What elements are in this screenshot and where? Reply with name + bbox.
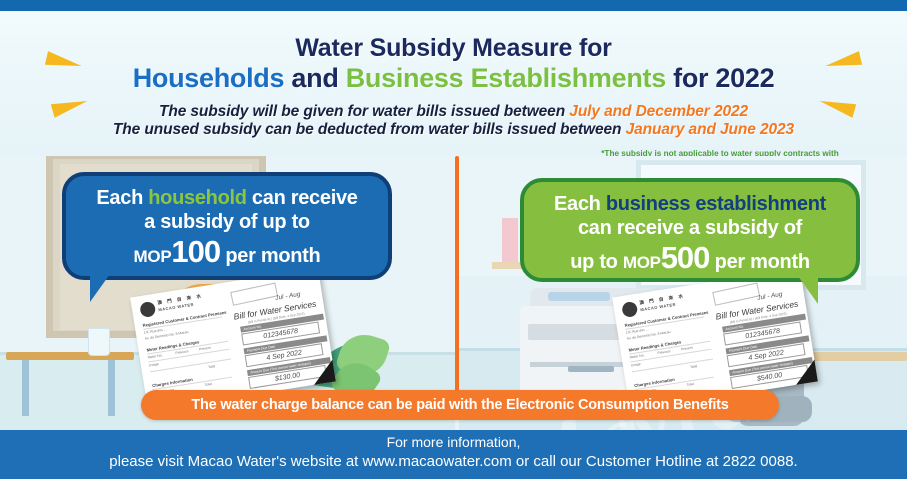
footer-content: For more information, please visit Macao… [0,434,907,470]
poster-root: Water Subsidy Measure for Households and… [0,0,907,479]
bill-left-charge-3: Total [204,382,212,387]
footer-line-1: For more information, [0,434,907,450]
subtitle-line-2: The unused subsidy can be deducted from … [0,121,907,139]
household-amount: 100 [171,234,220,269]
bill-right-col-2: Previous [657,349,671,355]
bill-right-section-customer: Registered Customer & Contract Premises [624,310,708,328]
business-line-3: up to MOP500 per month [524,240,856,277]
side-table-top [6,352,134,360]
title-business: Business Establishments [346,63,666,93]
household-line-1: Each household can receive [66,187,388,211]
business-line3-prefix: up to [570,251,623,273]
printer-handle-1 [568,366,614,372]
bill-left-col-3: Present [199,346,211,352]
title-and: and [291,63,338,93]
bill-right-col-4: Usage [631,362,641,367]
business-suffix: per month [709,251,809,273]
household-bubble-tail [90,274,132,302]
macao-water-logo-icon [621,301,638,318]
business-currency: MOP [623,253,661,272]
household-currency: MOP [134,247,172,266]
business-keyword: business establishment [606,193,826,215]
household-seg-3: can receive [247,187,358,209]
subtitle-line-1-period: July and December 2022 [569,103,748,120]
business-subsidy-bubble: Each business establishment can receive … [520,178,860,282]
subtitle-line-2-text: The unused subsidy can be deducted from … [113,121,621,138]
title-year: for 2022 [673,63,774,93]
bill-left-col-2: Previous [175,349,189,355]
business-line-1: Each business establishment [524,193,856,217]
household-suffix: per month [220,245,320,267]
side-table-leg-left [22,360,29,416]
business-line-2: can receive a subsidy of [524,217,856,241]
page-title: Water Subsidy Measure for Households and… [0,35,907,93]
water-glass-icon [88,328,110,356]
subtitle-line-1: The subsidy will be given for water bill… [0,103,907,121]
household-seg-1: Each [96,187,148,209]
title-line-2: Households and Business Establishments f… [0,64,907,92]
business-bubble-tail [776,276,818,304]
household-keyword: household [148,187,246,209]
bill-right-col-3: Present [681,346,693,352]
business-seg-1: Each [554,193,606,215]
macao-water-logo-icon [139,301,156,318]
electronic-consumption-banner: The water charge balance can be paid wit… [141,390,779,420]
title-households: Households [133,63,285,93]
book-1 [502,218,518,262]
bill-right-charge-3: Total [686,382,694,387]
household-line-2: a subsidy of up to [66,211,388,235]
bill-right-col-5: Total [690,364,698,369]
subtitle-line-2-period: January and June 2023 [626,121,794,138]
bill-left-col-4: Usage [149,362,159,367]
subtitle-line-1-text: The subsidy will be given for water bill… [159,103,565,120]
business-bubble-text: Each business establishment can receive … [524,182,856,277]
household-subsidy-bubble: Each household can receive a subsidy of … [62,172,392,280]
printer-lid [548,292,610,301]
household-line-3: MOP100 per month [66,234,388,271]
side-table-leg-right [108,360,115,416]
bill-left-section-customer: Registered Customer & Contract Premises [142,310,226,328]
banner-text: The water charge balance can be paid wit… [191,397,728,413]
business-amount: 500 [661,240,710,275]
footer-line-2: please visit Macao Water's website at ww… [0,453,907,470]
household-bubble-text: Each household can receive a subsidy of … [66,176,388,271]
top-rail [0,0,907,11]
title-line-1: Water Subsidy Measure for [0,35,907,61]
bill-left-col-5: Total [208,364,216,369]
